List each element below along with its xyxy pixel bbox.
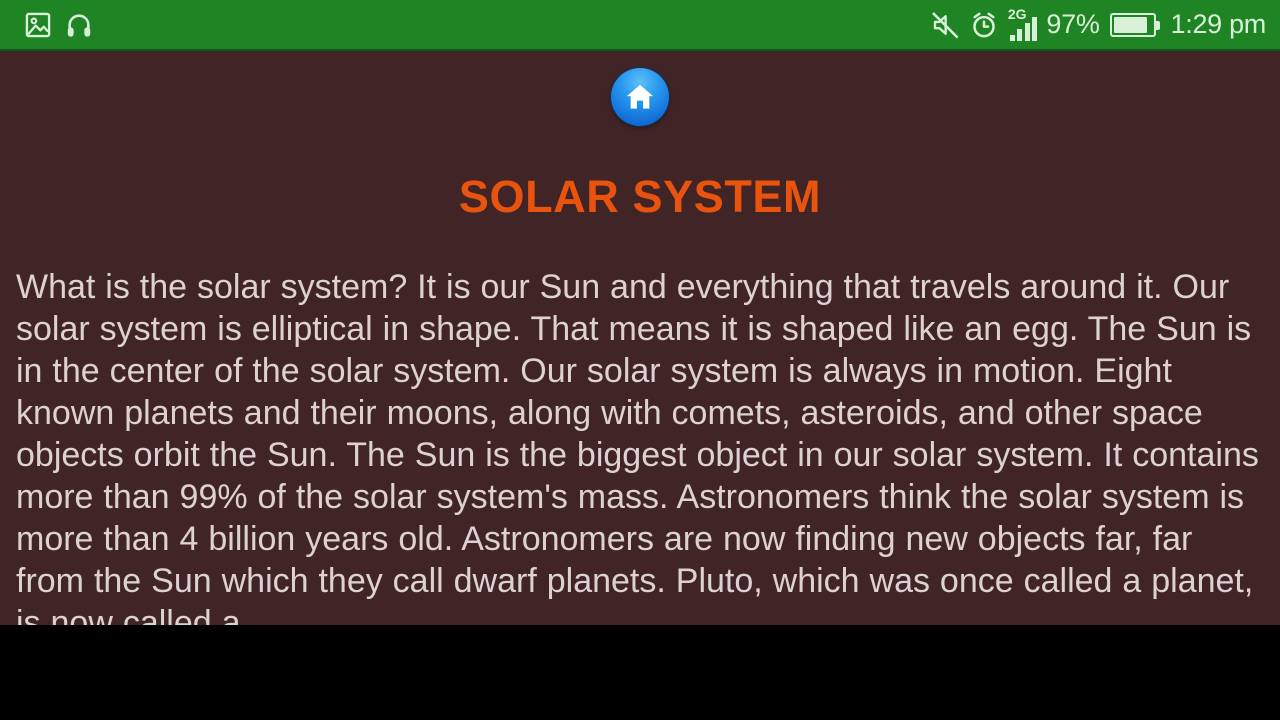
headphones-icon — [65, 11, 93, 39]
mute-icon — [930, 10, 960, 40]
status-bar-right-icons: 2G 97% 1:29 pm — [930, 9, 1266, 41]
status-bar-left-icons — [24, 11, 93, 39]
network-type-label: 2G — [1008, 7, 1027, 21]
clock-label: 1:29 pm — [1171, 11, 1266, 38]
home-button-container — [0, 51, 1280, 126]
image-icon — [24, 11, 52, 39]
status-bar: 2G 97% 1:29 pm — [0, 0, 1280, 51]
bottom-black-area — [0, 625, 1280, 720]
home-icon — [623, 80, 657, 114]
battery-icon — [1110, 13, 1156, 37]
alarm-clock-icon — [969, 10, 999, 40]
page-title: SOLAR SYSTEM — [0, 174, 1280, 219]
article-content[interactable]: SOLAR SYSTEM What is the solar system? I… — [0, 51, 1280, 625]
home-button[interactable] — [611, 68, 669, 126]
article-body-text: What is the solar system? It is our Sun … — [0, 266, 1280, 625]
signal-strength-indicator: 2G — [1008, 9, 1038, 41]
battery-percent-label: 97% — [1046, 11, 1099, 38]
app-screen: 2G 97% 1:29 pm SOLAR SYSTEM — [0, 0, 1280, 720]
